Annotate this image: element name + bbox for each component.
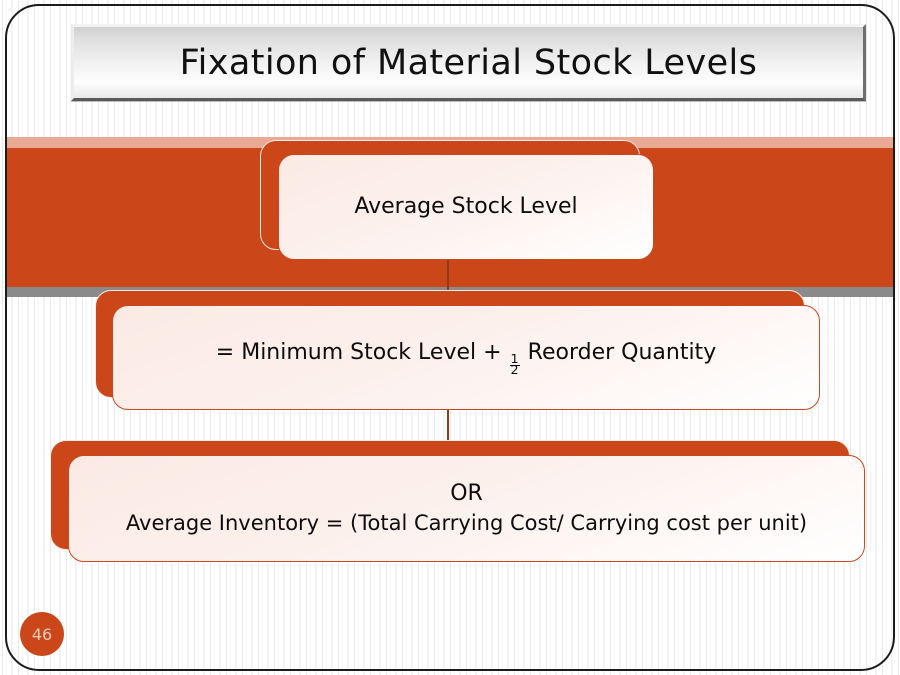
- callout-text-average-inventory: Average Inventory = (Total Carrying Cost…: [126, 510, 807, 537]
- callout-average-stock-formula: = Minimum Stock Level + 12 Reorder Quant…: [95, 290, 805, 398]
- callout-body: = Minimum Stock Level + 12 Reorder Quant…: [112, 305, 820, 410]
- title-plate: Fixation of Material Stock Levels: [71, 24, 866, 101]
- page-number-badge: 46: [20, 612, 64, 656]
- callout-average-inventory: OR Average Inventory = (Total Carrying C…: [50, 440, 850, 550]
- formula-prefix: = Minimum Stock Level +: [216, 340, 509, 365]
- fraction-denominator: 2: [510, 366, 520, 376]
- callout-body: OR Average Inventory = (Total Carrying C…: [68, 455, 865, 562]
- page-title: Fixation of Material Stock Levels: [180, 43, 758, 83]
- callout-text-average-stock: Average Stock Level: [354, 193, 577, 222]
- fraction-one-half: 12: [510, 355, 520, 377]
- callout-body: Average Stock Level: [278, 154, 654, 260]
- callout-text-formula: = Minimum Stock Level + 12 Reorder Quant…: [216, 339, 716, 377]
- callout-text-or: OR: [450, 480, 483, 509]
- page-number-label: 46: [32, 625, 52, 644]
- callout-average-stock-level: Average Stock Level: [260, 140, 640, 250]
- slide-canvas: Fixation of Material Stock Levels Averag…: [0, 0, 900, 675]
- formula-suffix: Reorder Quantity: [521, 340, 717, 365]
